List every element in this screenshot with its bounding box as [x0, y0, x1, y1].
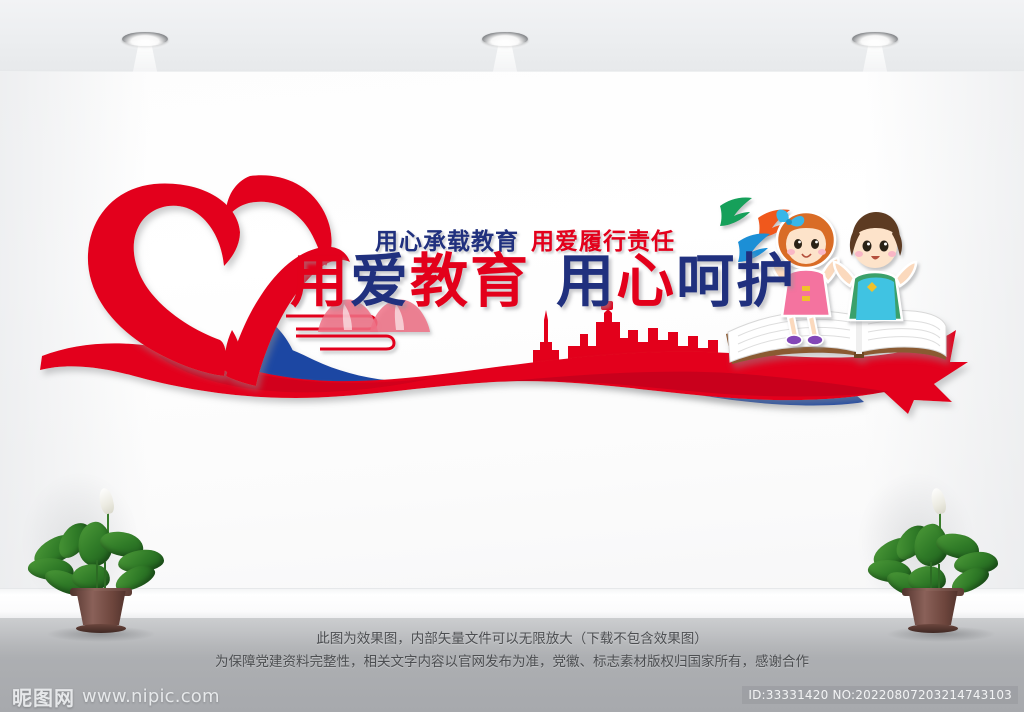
peace-lily-flower — [97, 487, 115, 515]
ceiling-spotlight-1 — [122, 32, 168, 46]
watermark-url-text: www.nipic.com — [82, 686, 220, 707]
spotlight-glow-icon — [120, 40, 170, 50]
title-char-6: 心 — [616, 247, 676, 315]
ceiling-spotlight-3 — [852, 32, 898, 46]
peace-lily-flower — [929, 487, 947, 515]
title-char-5: 用 — [556, 247, 616, 315]
spotlight-glow-icon — [480, 40, 530, 50]
title-char-8: 护 — [736, 247, 796, 315]
disclaimer-text: 此图为效果图，内部矢量文件可以无限放大（下载不包含效果图） 为保障党建资料完整性… — [0, 628, 1024, 674]
disclaimer-line-1: 此图为效果图，内部矢量文件可以无限放大（下载不包含效果图） — [0, 628, 1024, 651]
title-char-4: 育 — [470, 247, 530, 315]
site-watermark: 昵图网 www.nipic.com — [12, 682, 220, 711]
bird-green — [720, 197, 752, 226]
artwork-main-title: 用爱教育用心呵护 — [290, 252, 796, 310]
title-char-1: 用 — [290, 247, 350, 315]
potted-plant-right — [866, 488, 1016, 638]
screenshot-stage: 用心承载教育用爱履行责任 用爱教育用心呵护 — [0, 0, 1024, 712]
plant-pot — [905, 591, 961, 625]
plant-pot — [73, 591, 129, 625]
disclaimer-line-2: 为保障党建资料完整性，相关文字内容以官网发布为准，党徽、标志素材版权归国家所有，… — [0, 651, 1024, 674]
potted-plant-left — [26, 488, 176, 638]
spotlight-glow-icon — [850, 40, 900, 50]
watermark-logo-text: 昵图网 — [12, 682, 75, 711]
image-id-badge: ID:33331420 NO:20220807203214743103 — [742, 686, 1018, 704]
title-char-7: 呵 — [676, 247, 736, 315]
boy-character — [834, 212, 916, 320]
title-char-3: 教 — [410, 247, 470, 315]
ceiling-spotlight-2 — [482, 32, 528, 46]
title-char-2: 爱 — [350, 247, 410, 315]
